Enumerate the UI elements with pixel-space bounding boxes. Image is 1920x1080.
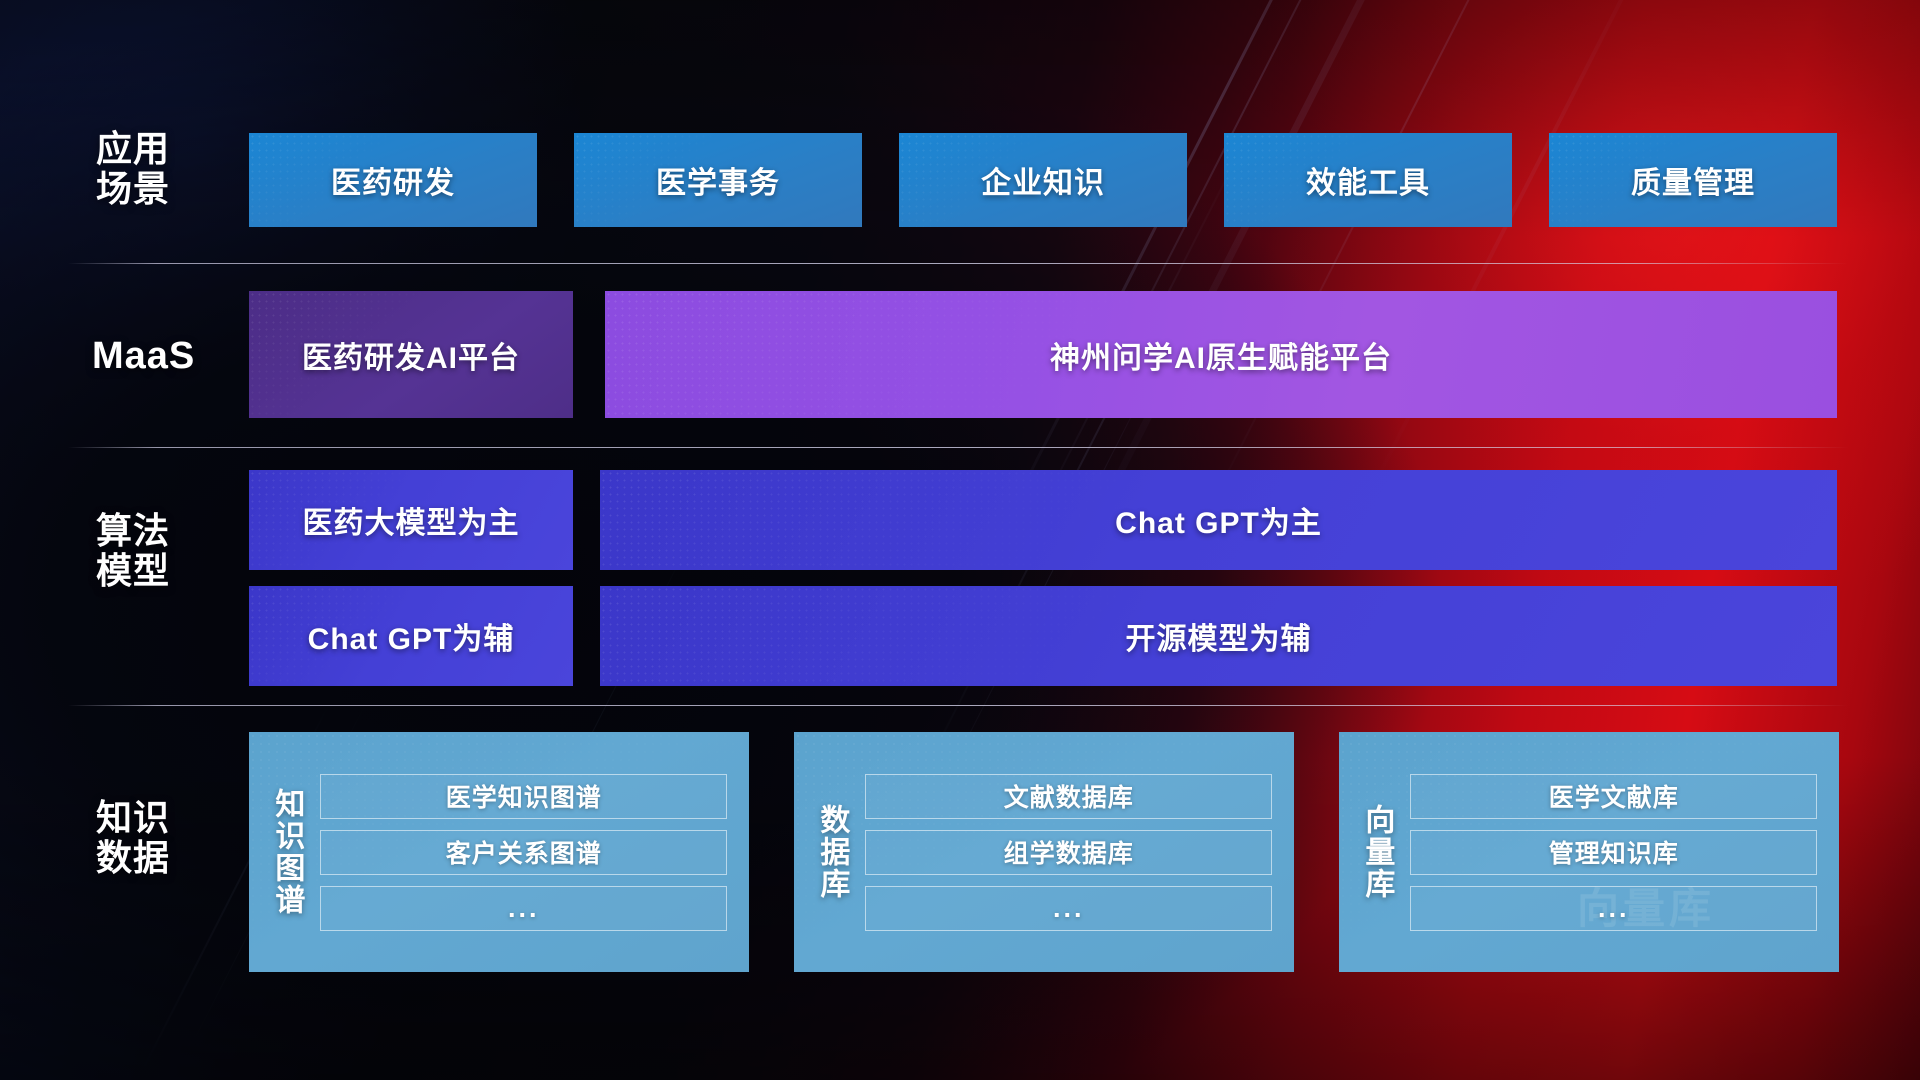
knowledge-panel-database[interactable]: 数据库 文献数据库 组学数据库 ... [794, 732, 1294, 972]
knowledge-item[interactable]: 客户关系图谱 [320, 830, 727, 875]
maas-box-right[interactable]: 神州问学AI原生赋能平台 [605, 291, 1837, 418]
architecture-diagram: 应用 场景 医药研发 医学事务 企业知识 效能工具 质量管理 MaaS 医药研发… [0, 0, 1920, 1080]
knowledge-panel-vector-title: 向量库 [1359, 804, 1394, 900]
knowledge-item[interactable]: 文献数据库 [865, 774, 1272, 819]
application-box-2-label: 医学事务 [656, 158, 780, 202]
knowledge-item-label: 医学文献库 [1549, 778, 1679, 814]
knowledge-item-more[interactable]: ... [865, 886, 1272, 931]
algorithm-box-right-primary-label: Chat GPT为主 [1115, 498, 1322, 542]
algorithm-box-left-secondary-label: Chat GPT为辅 [308, 614, 515, 658]
knowledge-item-label: 管理知识库 [1549, 834, 1679, 870]
algorithm-box-right-secondary[interactable]: 开源模型为辅 [600, 586, 1837, 686]
application-box-3-label: 企业知识 [981, 158, 1105, 202]
knowledge-panel-database-items: 文献数据库 组学数据库 ... [865, 774, 1272, 931]
knowledge-item-label: 文献数据库 [1004, 778, 1134, 814]
application-box-4[interactable]: 效能工具 [1224, 133, 1512, 227]
knowledge-panel-vector-items: 医学文献库 管理知识库 ... [1410, 774, 1817, 931]
knowledge-panel-database-title: 数据库 [814, 804, 849, 900]
knowledge-panel-graph-title: 知识图谱 [269, 788, 304, 916]
algorithm-box-right-primary[interactable]: Chat GPT为主 [600, 470, 1837, 570]
knowledge-item[interactable]: 管理知识库 [1410, 830, 1817, 875]
knowledge-item-label: ... [508, 893, 540, 924]
knowledge-item-label: 客户关系图谱 [446, 834, 602, 870]
application-box-3[interactable]: 企业知识 [899, 133, 1187, 227]
row-label-application: 应用 场景 [96, 129, 170, 210]
knowledge-item-more[interactable]: ... [320, 886, 727, 931]
knowledge-panel-graph[interactable]: 知识图谱 医学知识图谱 客户关系图谱 ... [249, 732, 749, 972]
application-box-4-label: 效能工具 [1306, 158, 1430, 202]
knowledge-item-label: 组学数据库 [1004, 834, 1134, 870]
application-box-5-label: 质量管理 [1631, 158, 1755, 202]
knowledge-item-label: 医学知识图谱 [446, 778, 602, 814]
divider-application-maas [68, 263, 1848, 264]
knowledge-item[interactable]: 医学知识图谱 [320, 774, 727, 819]
maas-box-right-label: 神州问学AI原生赋能平台 [1050, 333, 1392, 377]
application-box-1-label: 医药研发 [331, 158, 455, 202]
application-box-2[interactable]: 医学事务 [574, 133, 862, 227]
knowledge-item-more[interactable]: ... [1410, 886, 1817, 931]
algorithm-box-left-secondary[interactable]: Chat GPT为辅 [249, 586, 573, 686]
knowledge-panel-graph-items: 医学知识图谱 客户关系图谱 ... [320, 774, 727, 931]
knowledge-item[interactable]: 医学文献库 [1410, 774, 1817, 819]
row-label-algorithm: 算法 模型 [96, 511, 170, 592]
algorithm-box-left-primary[interactable]: 医药大模型为主 [249, 470, 573, 570]
divider-maas-algorithm [68, 447, 1848, 448]
knowledge-panel-vector[interactable]: 向量库 向量库 医学文献库 管理知识库 ... [1339, 732, 1839, 972]
knowledge-item[interactable]: 组学数据库 [865, 830, 1272, 875]
row-label-knowledge: 知识 数据 [96, 798, 170, 879]
row-label-maas: MaaS [92, 335, 195, 378]
application-box-5[interactable]: 质量管理 [1549, 133, 1837, 227]
divider-algorithm-knowledge [68, 705, 1848, 706]
knowledge-item-label: ... [1598, 893, 1630, 924]
maas-box-left-label: 医药研发AI平台 [302, 333, 520, 377]
application-box-1[interactable]: 医药研发 [249, 133, 537, 227]
maas-box-left[interactable]: 医药研发AI平台 [249, 291, 573, 418]
algorithm-box-left-primary-label: 医药大模型为主 [303, 498, 520, 542]
knowledge-item-label: ... [1053, 893, 1085, 924]
algorithm-box-right-secondary-label: 开源模型为辅 [1126, 614, 1312, 658]
